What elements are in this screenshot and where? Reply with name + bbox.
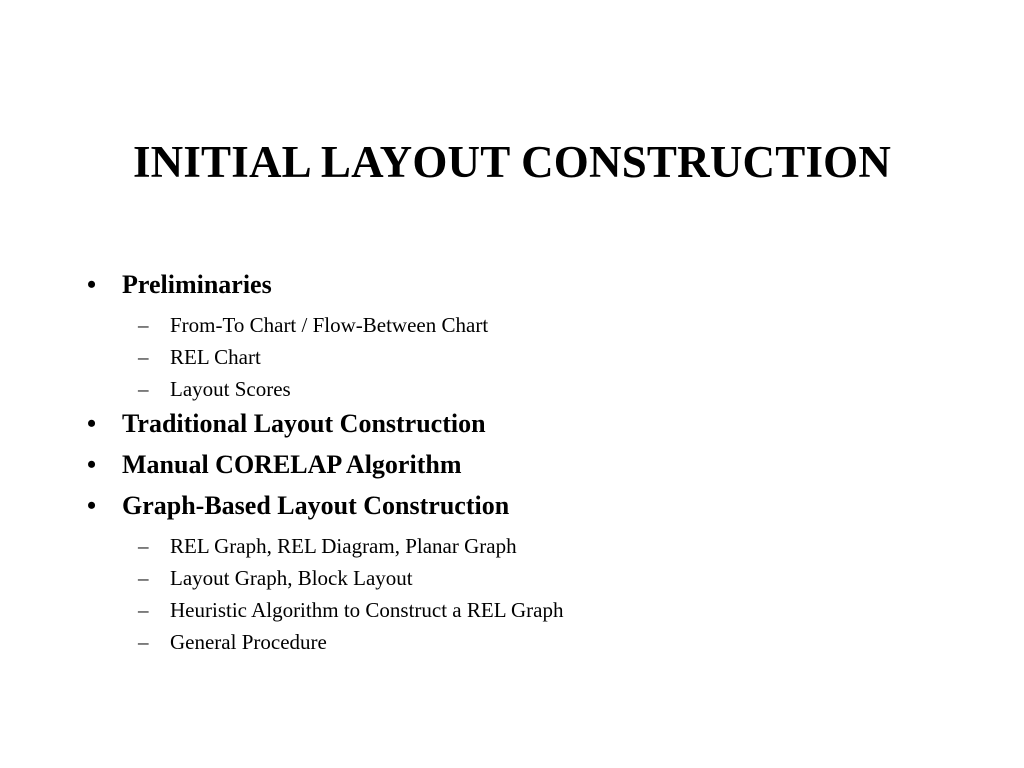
- outline-item-label: REL Graph, REL Diagram, Planar Graph: [170, 532, 517, 560]
- outline-item-label: Graph-Based Layout Construction: [122, 489, 509, 523]
- outline-item-level1[interactable]: • Traditional Layout Construction: [86, 407, 946, 448]
- bullet-dot-icon: •: [86, 407, 122, 441]
- outline-item-level2[interactable]: – Layout Graph, Block Layout: [86, 564, 946, 596]
- outline-item-label: Layout Scores: [170, 375, 291, 403]
- outline-item-label: Traditional Layout Construction: [122, 407, 486, 441]
- outline-item-level2[interactable]: – From-To Chart / Flow-Between Chart: [86, 311, 946, 343]
- outline-item-label: Manual CORELAP Algorithm: [122, 448, 461, 482]
- bullet-dash-icon: –: [138, 564, 170, 592]
- outline-item-level2[interactable]: – REL Chart: [86, 343, 946, 375]
- slide: INITIAL LAYOUT CONSTRUCTION • Preliminar…: [0, 0, 1024, 768]
- bullet-dot-icon: •: [86, 448, 122, 482]
- outline-item-label: Layout Graph, Block Layout: [170, 564, 413, 592]
- page-title: INITIAL LAYOUT CONSTRUCTION: [0, 136, 1024, 188]
- outline-item-level2[interactable]: – Heuristic Algorithm to Construct a REL…: [86, 596, 946, 628]
- outline-item-label: Preliminaries: [122, 268, 272, 302]
- bullet-dash-icon: –: [138, 375, 170, 403]
- bullet-dot-icon: •: [86, 489, 122, 523]
- outline-item-label: General Procedure: [170, 628, 327, 656]
- outline-item-level1[interactable]: • Graph-Based Layout Construction: [86, 489, 946, 530]
- outline-item-level1[interactable]: • Manual CORELAP Algorithm: [86, 448, 946, 489]
- bullet-dash-icon: –: [138, 343, 170, 371]
- bullet-dash-icon: –: [138, 311, 170, 339]
- outline-item-level2[interactable]: – General Procedure: [86, 628, 946, 660]
- outline-item-level1[interactable]: • Preliminaries: [86, 268, 946, 309]
- outline-item-label: Heuristic Algorithm to Construct a REL G…: [170, 596, 564, 624]
- outline-list: • Preliminaries – From-To Chart / Flow-B…: [86, 268, 946, 660]
- outline-item-label: REL Chart: [170, 343, 261, 371]
- outline-item-label: From-To Chart / Flow-Between Chart: [170, 311, 488, 339]
- bullet-dash-icon: –: [138, 596, 170, 624]
- bullet-dot-icon: •: [86, 268, 122, 302]
- outline-item-level2[interactable]: – Layout Scores: [86, 375, 946, 407]
- bullet-dash-icon: –: [138, 628, 170, 656]
- bullet-dash-icon: –: [138, 532, 170, 560]
- outline-item-level2[interactable]: – REL Graph, REL Diagram, Planar Graph: [86, 532, 946, 564]
